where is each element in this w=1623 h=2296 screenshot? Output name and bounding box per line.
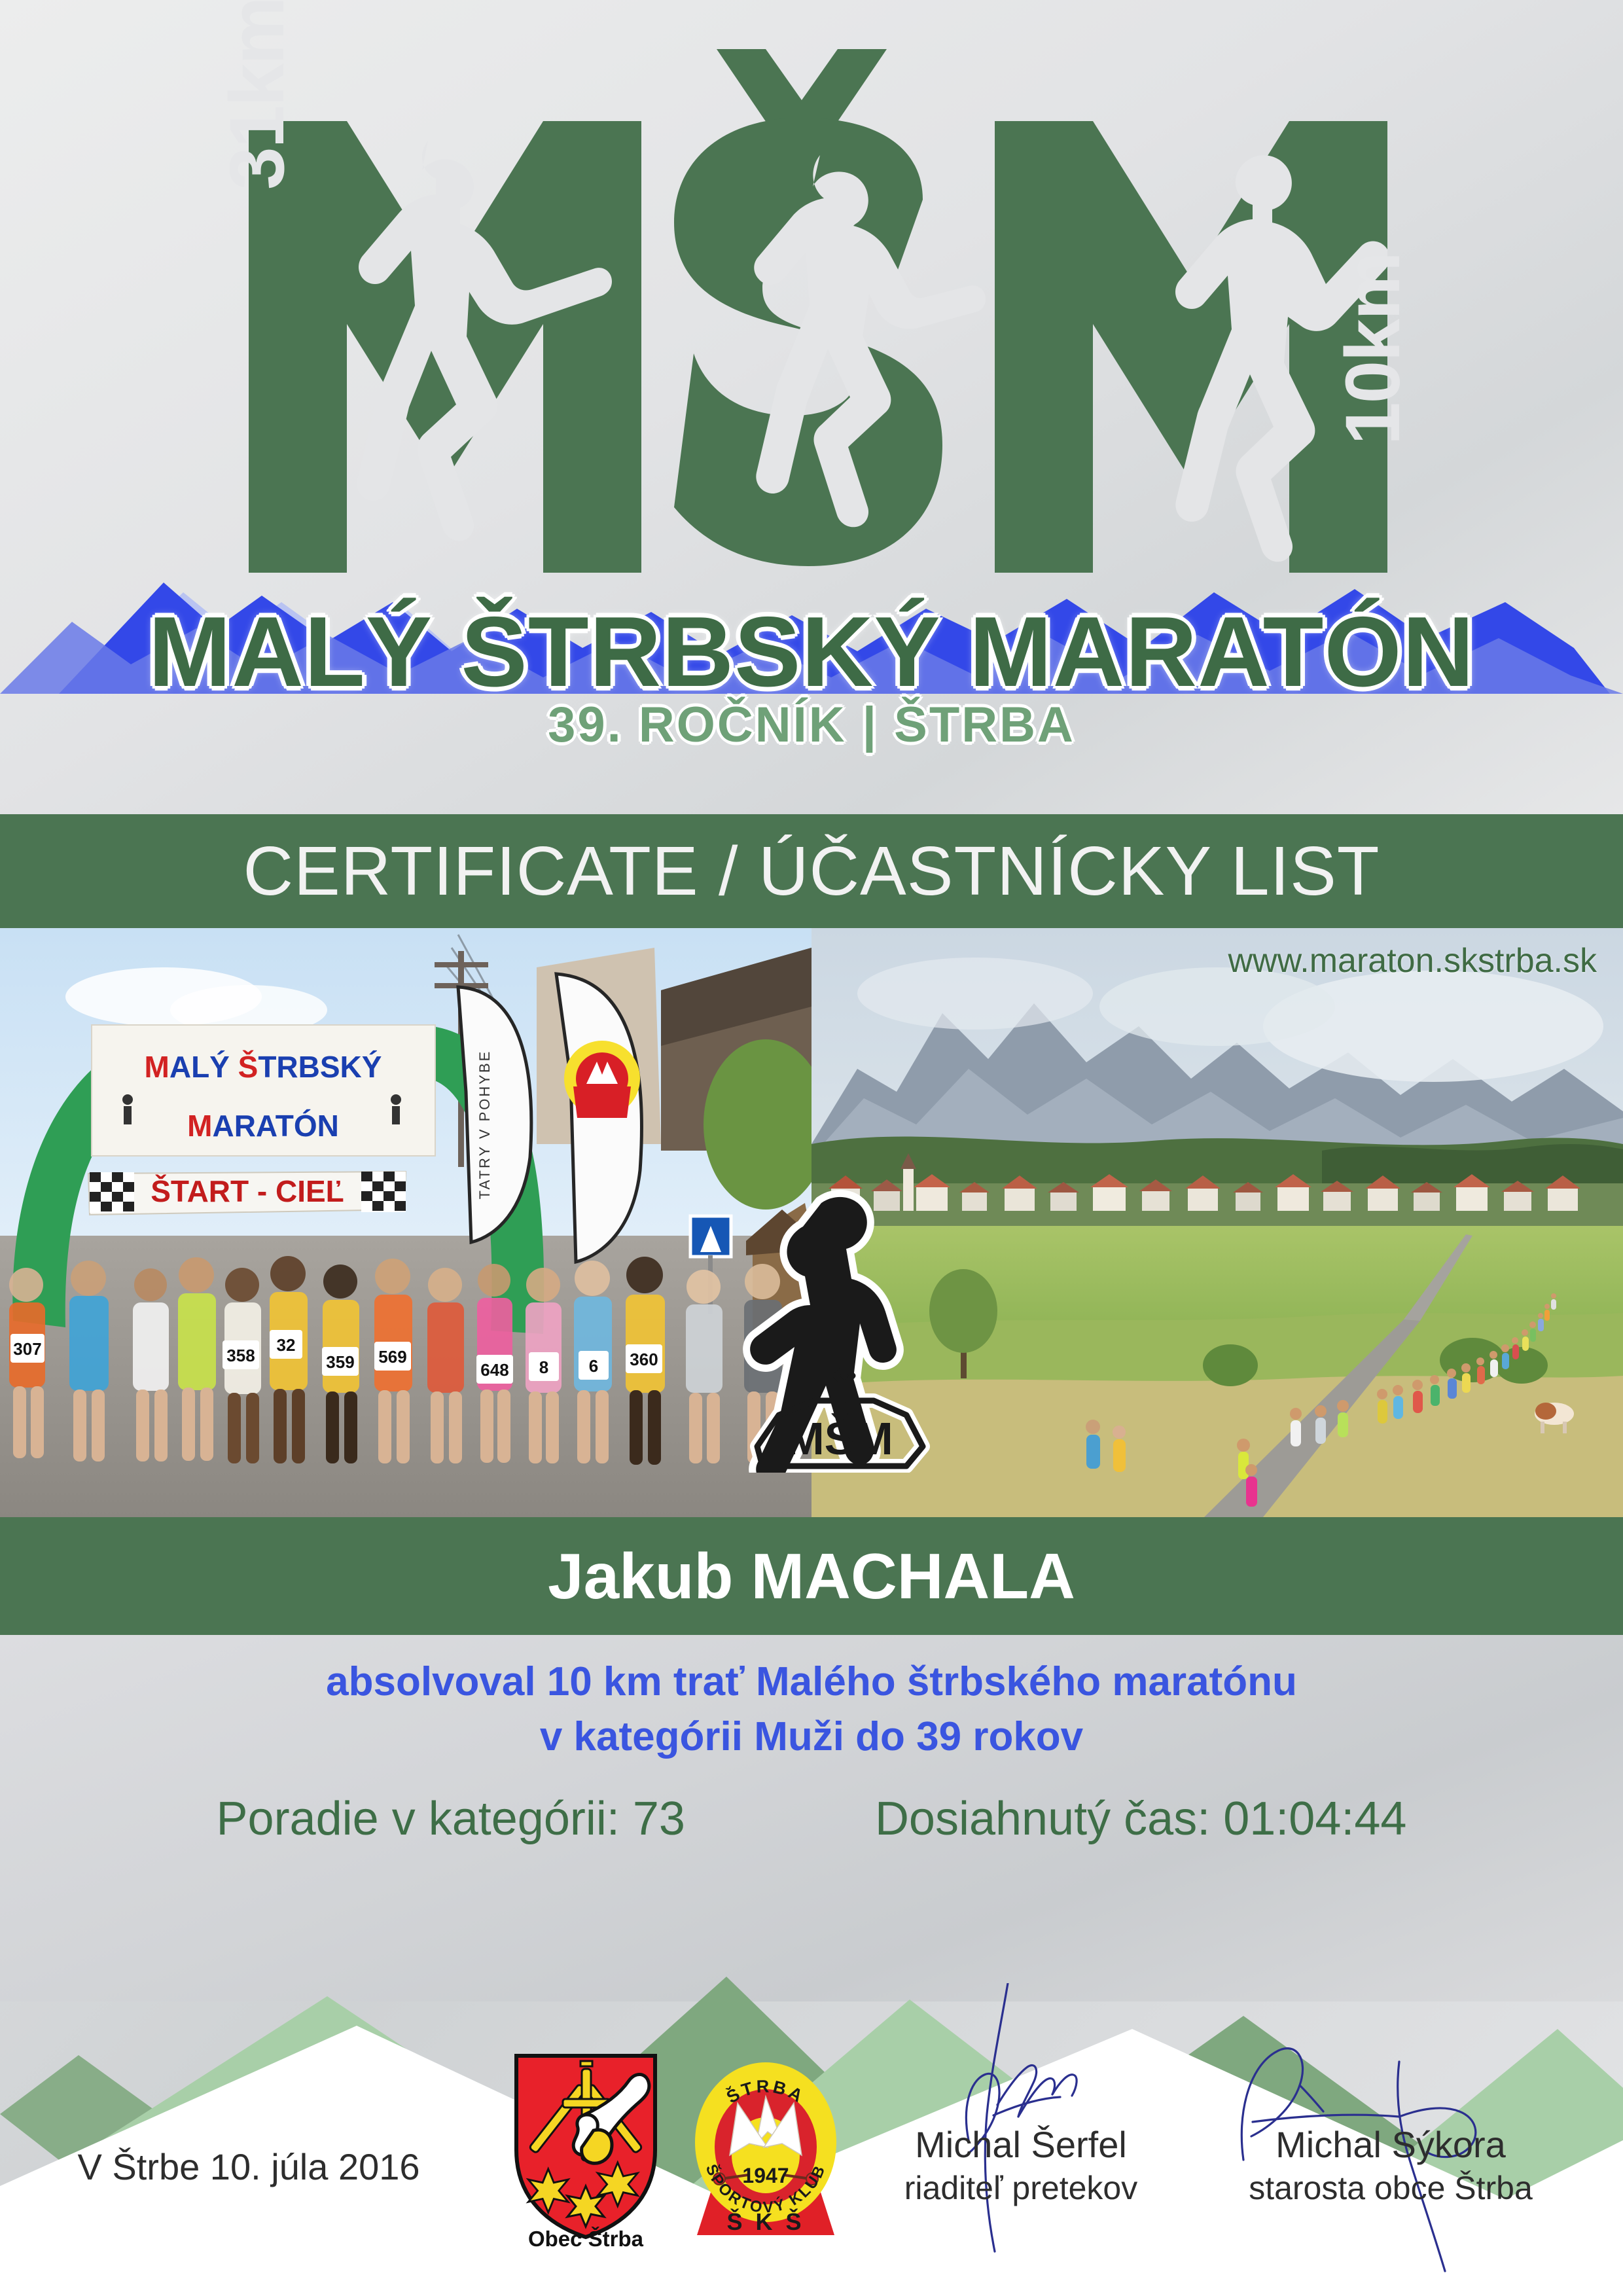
svg-text:6: 6 [589, 1356, 598, 1376]
distance-left-label: 31km [213, 0, 302, 190]
svg-text:ŠTART - CIEĽ: ŠTART - CIEĽ [151, 1174, 344, 1208]
certificate-title-band: CERTIFICATE / ÚČASTNÍCKY LIST [0, 814, 1623, 928]
header-logo-area: 31km 10km MALÝ ŠTRBSKÝ MARATÓN 39. ROČNÍ… [0, 0, 1623, 814]
svg-text:MALÝ ŠTRBSKÝ: MALÝ ŠTRBSKÝ [145, 1050, 382, 1084]
certificate-description: absolvoval 10 km trať Malého štrbského m… [0, 1655, 1623, 1764]
signatory-sykora: Michal Sýkora starosta obce Štrba [1214, 2126, 1567, 2208]
msm-logo: 31km 10km MALÝ ŠTRBSKÝ MARATÓN 39. ROČNÍ… [0, 0, 1623, 814]
signatory-role: starosta obce Štrba [1214, 2168, 1567, 2208]
issue-date: V Štrbe 10. júla 2016 [65, 2145, 432, 2188]
website-url: www.maraton.skstrba.sk [1228, 941, 1597, 980]
svg-text:TATRY V POHYBE: TATRY V POHYBE [476, 1050, 493, 1200]
certificate-page: 31km 10km MALÝ ŠTRBSKÝ MARATÓN 39. ROČNÍ… [0, 0, 1623, 2296]
msm-letters-graphic [249, 49, 1387, 573]
svg-text:648: 648 [480, 1360, 508, 1380]
svg-text:358: 358 [226, 1346, 255, 1365]
sks-initials: Š K Š [726, 2208, 804, 2235]
obec-strba-coat-of-arms: Obec Štrba [507, 2052, 664, 2248]
event-title: MALÝ ŠTRBSKÝ MARATÓN [0, 602, 1623, 702]
obec-label: Obec Štrba [528, 2226, 644, 2248]
participant-name: Jakub MACHALA [548, 1544, 1075, 1608]
sks-year: 1947 [742, 2164, 789, 2187]
svg-text:8: 8 [539, 1357, 548, 1377]
photo-race-start: MALÝ ŠTRBSKÝ MARATÓN [0, 928, 811, 1517]
signatory-name: Michal Sýkora [1214, 2126, 1567, 2164]
svg-text:360: 360 [630, 1350, 658, 1369]
svg-text:359: 359 [326, 1352, 354, 1372]
svg-text:MARATÓN: MARATÓN [187, 1109, 339, 1143]
participant-name-band: Jakub MACHALA [0, 1517, 1623, 1635]
msm-runner-badge-icon: MŠM [743, 1185, 933, 1473]
description-line-2: v kategórii Muži do 39 rokov [0, 1710, 1623, 1765]
signatory-role: riaditeľ pretekov [851, 2168, 1191, 2208]
certificate-title: CERTIFICATE / ÚČASTNÍCKY LIST [243, 836, 1380, 906]
results-row: Poradie v kategórii: 73 Dosiahnutý čas: … [0, 1792, 1623, 1846]
time-result: Dosiahnutý čas: 01:04:44 [875, 1792, 1407, 1846]
svg-text:307: 307 [13, 1339, 41, 1359]
signatory-name: Michal Šerfel [851, 2126, 1191, 2164]
msm-badge-text: MŠM [786, 1412, 893, 1464]
svg-text:32: 32 [277, 1335, 296, 1355]
sks-club-logo: 1947 ŠTRBA ŠPORTOVÝ KLUB Š K Š [690, 2045, 841, 2248]
description-line-1: absolvoval 10 km trať Malého štrbského m… [0, 1655, 1623, 1710]
svg-text:569: 569 [378, 1347, 406, 1367]
distance-right-label: 10km [1329, 157, 1418, 445]
photo-race-course: www.maraton.skstrba.sk [811, 928, 1623, 1517]
rank-result: Poradie v kategórii: 73 [217, 1792, 685, 1846]
signatory-serfel: Michal Šerfel riaditeľ pretekov [851, 2126, 1191, 2208]
event-subtitle: 39. ROČNÍK | ŠTRBA [0, 700, 1623, 750]
